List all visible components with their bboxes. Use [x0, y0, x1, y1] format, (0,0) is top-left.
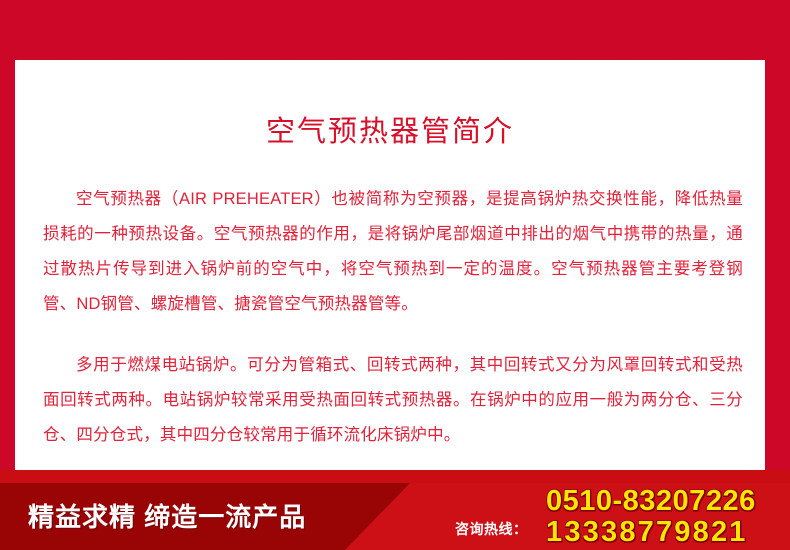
phone-number-landline[interactable]: 0510-83207226	[546, 486, 790, 517]
page-root: 空气预热器管简介 空气预热器（AIR PREHEATER）也被简称为空预器，是提…	[0, 0, 790, 550]
paragraph-1: 空气预热器（AIR PREHEATER）也被简称为空预器，是提高锅炉热交换性能，…	[43, 182, 743, 322]
phone-number-mobile[interactable]: 13338779821	[546, 517, 790, 548]
content-card: 空气预热器管简介 空气预热器（AIR PREHEATER）也被简称为空预器，是提…	[15, 60, 765, 470]
top-red-band	[0, 0, 790, 60]
footer-bar: 精益求精 缔造一流产品 咨询热线： 0510-83207226 13338779…	[0, 483, 790, 550]
footer-separator-strip	[0, 470, 790, 483]
hotline-numbers: 0510-83207226 13338779821	[546, 486, 790, 548]
paragraph-2: 多用于燃煤电站锅炉。可分为管箱式、回转式两种，其中回转式又分为风罩回转式和受热面…	[43, 348, 743, 453]
page-title: 空气预热器管简介	[15, 115, 765, 150]
footer-slogan: 精益求精 缔造一流产品	[28, 497, 306, 534]
body-copy: 空气预热器（AIR PREHEATER）也被简称为空预器，是提高锅炉热交换性能，…	[43, 182, 743, 453]
hotline-label: 咨询热线：	[455, 519, 528, 539]
